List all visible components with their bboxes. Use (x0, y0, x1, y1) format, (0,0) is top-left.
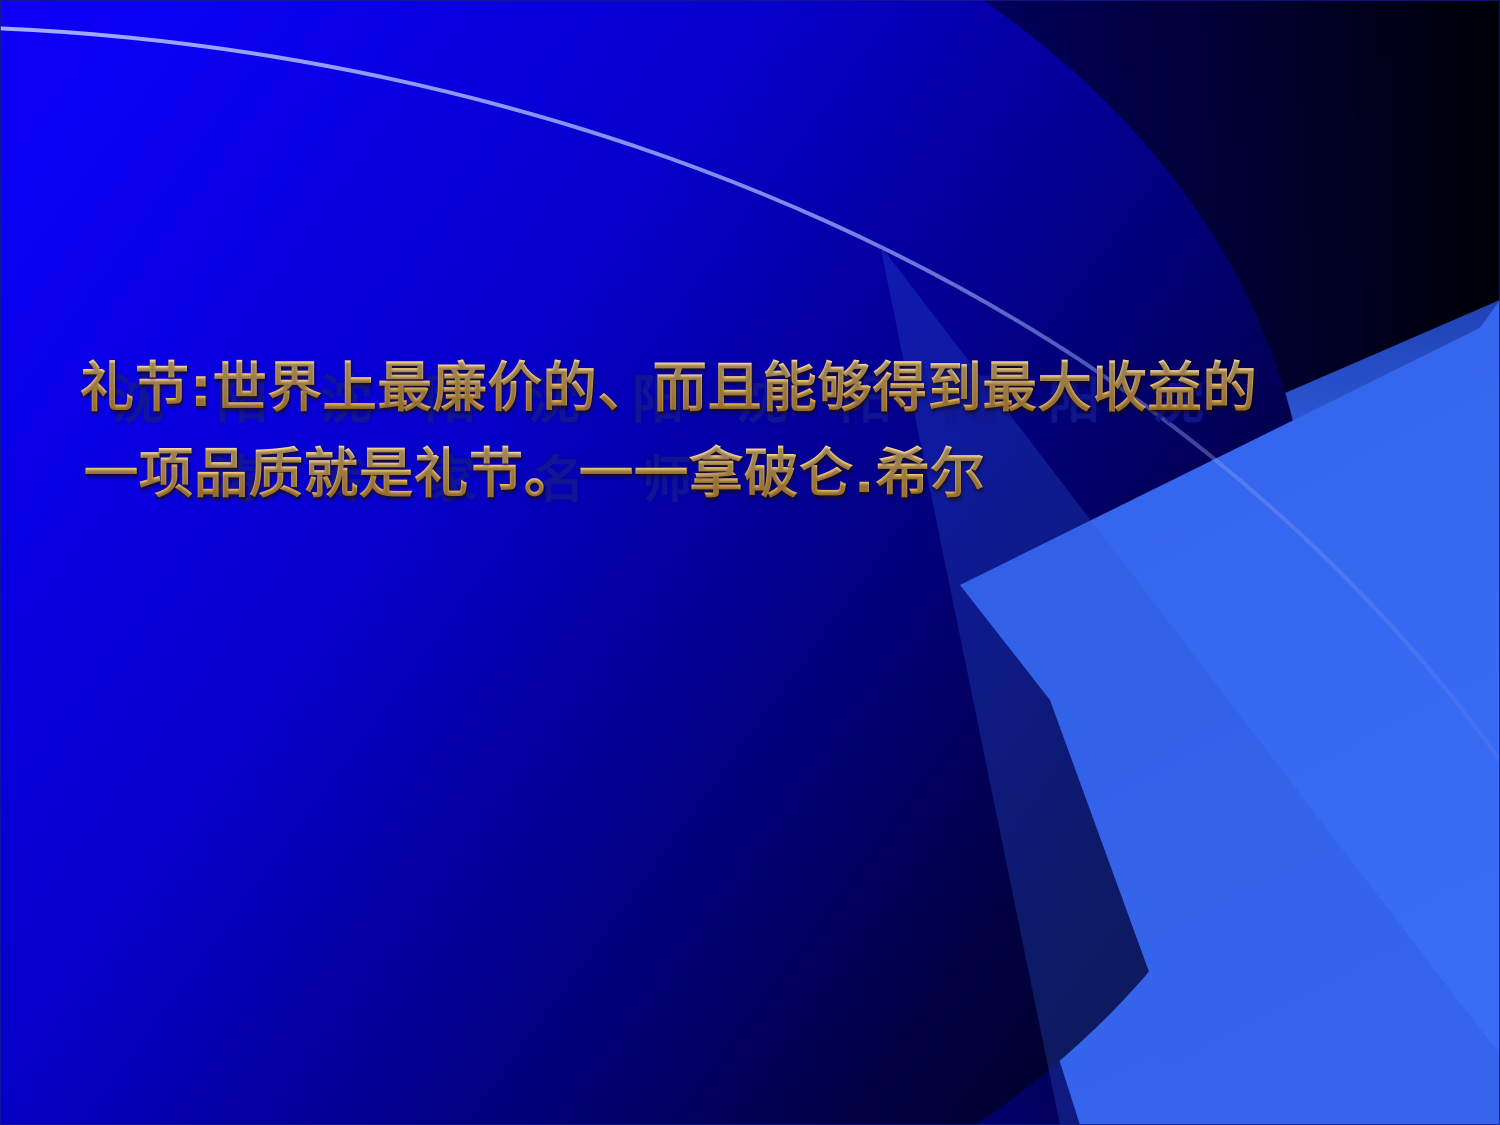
quote-line-2: 一项品质就是礼节。一一拿破仑.希尔 (80, 431, 1430, 517)
quote-line-1: 礼节:世界上最廉价的、而且能够得到最大收益的 (80, 345, 1430, 431)
slide-background-artwork (0, 0, 1500, 1125)
presentation-slide: 沈阳沈阳沈阳沈阳闻阳沈 涛专家名师 礼节:世界上最廉价的、而且能够得到最大收益的… (0, 0, 1500, 1125)
slide-text-body: 礼节:世界上最廉价的、而且能够得到最大收益的 一项品质就是礼节。一一拿破仑.希尔 (80, 345, 1430, 517)
